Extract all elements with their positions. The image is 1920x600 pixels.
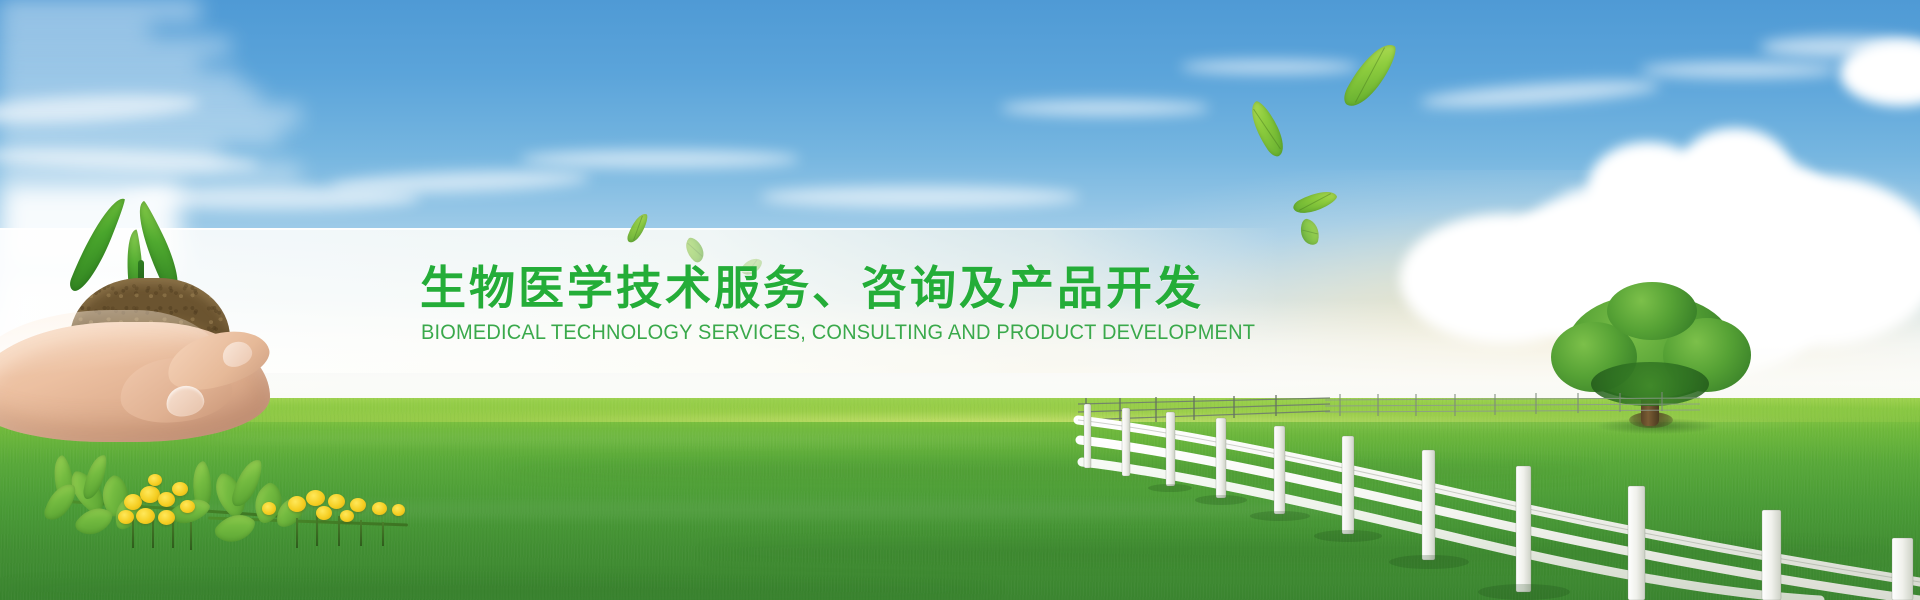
flower [180,500,195,513]
flower [262,502,276,515]
flower [140,486,160,503]
flower [118,510,134,524]
foreground-plants [40,452,460,582]
flower [392,504,405,516]
flower [172,482,188,496]
text-band-top-edge [0,228,1240,230]
flower [316,506,332,520]
flower [158,510,175,525]
hand-with-sprout [0,250,300,450]
flower [372,502,387,515]
flower [350,498,366,512]
flower [340,510,354,522]
flower [306,490,325,506]
page-title: 生物医学技术服务、咨询及产品开发 [420,252,1204,318]
leaf [42,479,77,524]
page-subtitle: BIOMEDICAL TECHNOLOGY SERVICES, CONSULTI… [421,320,1255,345]
flower [288,496,306,512]
hero-banner: 生物医学技术服务、咨询及产品开发 BIOMEDICAL TECHNOLOGY S… [0,0,1920,600]
flower [148,474,162,486]
flower [136,508,155,524]
flower [328,494,345,509]
flower [158,492,175,507]
